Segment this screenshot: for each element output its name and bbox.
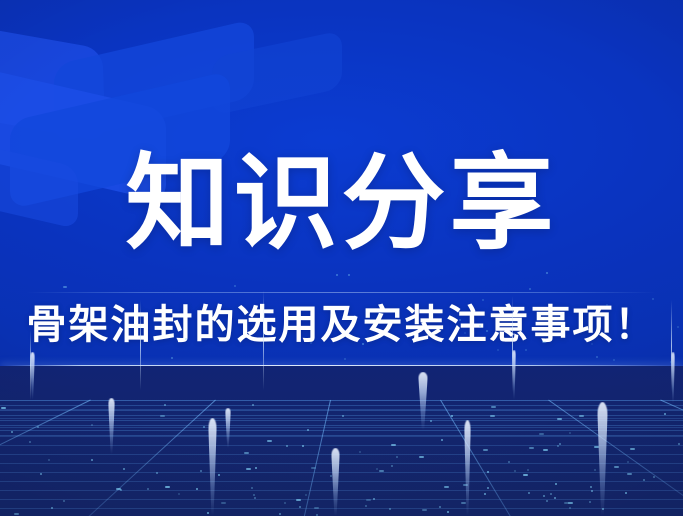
upper-dot bbox=[613, 359, 615, 361]
upper-dot bbox=[336, 274, 338, 276]
upper-dot bbox=[479, 325, 481, 327]
upper-dot bbox=[482, 299, 484, 301]
upper-dot bbox=[185, 338, 187, 340]
upper-dot bbox=[464, 332, 466, 334]
upper-dot bbox=[310, 342, 312, 344]
upper-dot bbox=[546, 272, 548, 274]
upper-dot bbox=[344, 358, 346, 360]
upper-dot bbox=[606, 304, 608, 306]
upper-dot bbox=[670, 361, 672, 363]
upper-dot bbox=[591, 343, 593, 345]
knowledge-share-banner: 知识分享 骨架油封的选用及安装注意事项！ bbox=[0, 0, 683, 516]
upper-dot bbox=[677, 326, 679, 328]
upper-dot bbox=[486, 330, 488, 332]
upper-dot bbox=[234, 285, 236, 287]
upper-dots bbox=[0, 0, 683, 516]
upper-dot bbox=[362, 343, 364, 345]
upper-dot bbox=[171, 357, 173, 359]
upper-dot bbox=[542, 341, 546, 343]
upper-dot bbox=[652, 298, 654, 300]
upper-dot bbox=[459, 319, 461, 321]
upper-dot bbox=[63, 286, 67, 288]
upper-dot bbox=[525, 349, 527, 351]
upper-dot bbox=[497, 349, 499, 351]
upper-dot bbox=[596, 356, 598, 358]
upper-dot bbox=[348, 274, 350, 276]
upper-dot bbox=[529, 288, 531, 290]
